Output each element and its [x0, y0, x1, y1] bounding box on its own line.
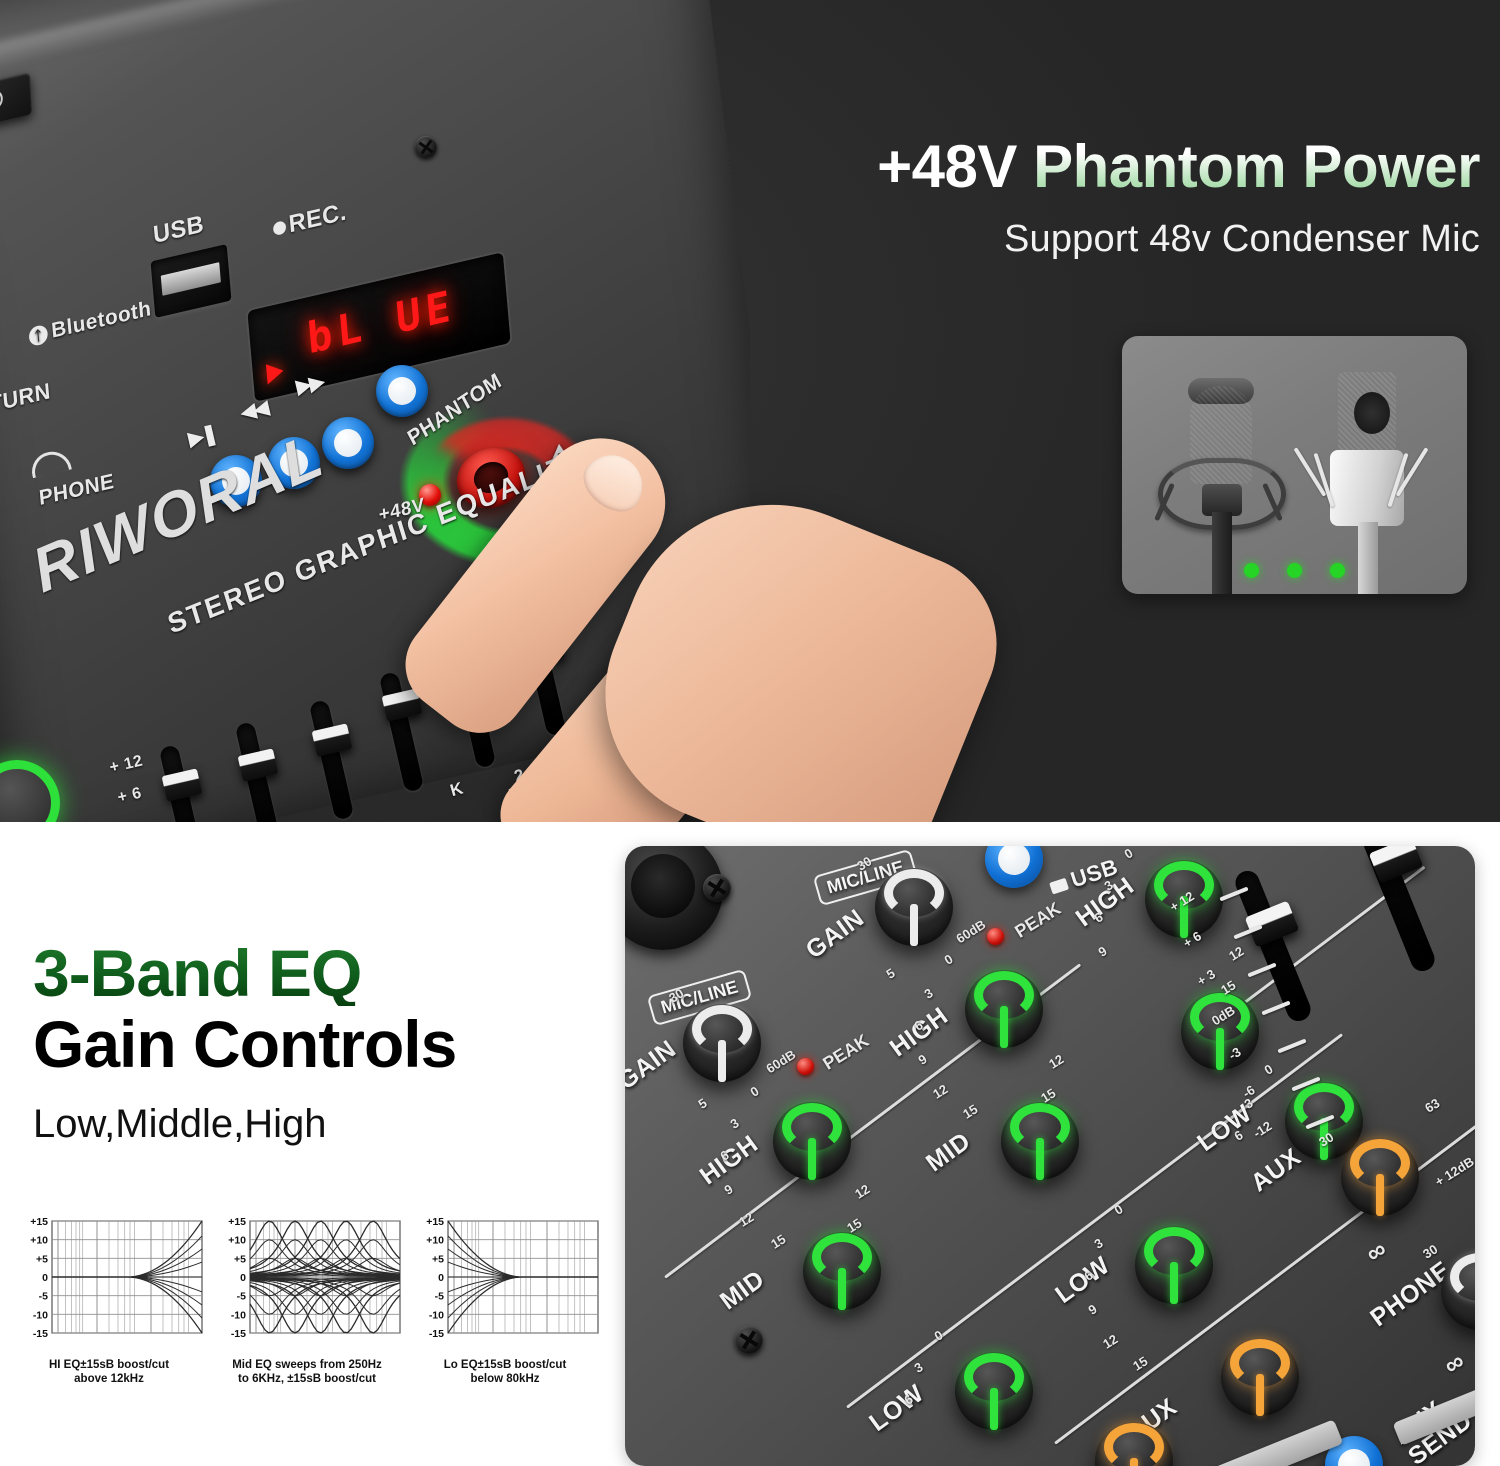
next-track-button[interactable]: [322, 417, 374, 469]
svg-text:+5: +5: [432, 1253, 444, 1265]
knob-pointer: [1256, 1374, 1264, 1416]
panel-screw-icon: [735, 1326, 763, 1354]
knob-pointer: [838, 1268, 846, 1310]
svg-text:-5: -5: [237, 1291, 246, 1303]
eq-scale-9: 9: [1096, 943, 1110, 960]
eq-scale-15: 15: [768, 1231, 788, 1251]
mid-eq-knob[interactable]: [1181, 992, 1259, 1070]
knob-ring: [1450, 1253, 1475, 1301]
svg-text:+10: +10: [426, 1235, 444, 1247]
mic-capsule: [1354, 392, 1390, 434]
eq-chart-high-caption: HI EQ±15sB boost/cut above 12kHz: [10, 1358, 208, 1387]
knob-pointer: [1376, 1174, 1384, 1216]
phantom-power-section: USB REC. ᛏBluetooth MODE TURN PHONE bL U…: [0, 0, 1500, 822]
eq-scale-3: 3: [728, 1115, 742, 1132]
svg-text:+15: +15: [228, 1216, 246, 1228]
eq-response-charts: +15+10+50-5-10-15 HI EQ±15sB boost/cut a…: [10, 1215, 604, 1387]
eq-scale-3: 3: [922, 985, 936, 1002]
gain-knob[interactable]: [683, 1004, 761, 1082]
eq-chart-mid-svg: +15+10+50-5-10-15: [208, 1215, 406, 1350]
panel-screw-icon: [415, 136, 437, 158]
peak-label: PEAK: [1011, 898, 1065, 942]
condenser-mic-dark: [1144, 362, 1304, 592]
aux-label: AUX: [1246, 1143, 1307, 1198]
fingernail: [574, 443, 655, 522]
svg-text:0: 0: [42, 1272, 48, 1284]
eq-title-black: Gain Controls: [33, 1008, 456, 1082]
svg-text:+5: +5: [234, 1253, 246, 1265]
subheadline: Support 48v Condenser Mic: [780, 218, 1480, 261]
eq-scale-0: 0: [1122, 846, 1136, 862]
knob-pointer: [808, 1138, 816, 1180]
svg-text:-10: -10: [33, 1309, 48, 1321]
svg-text:-15: -15: [33, 1328, 48, 1340]
mixer-knobs-photo: MIC/LINE MIC/LINE GAIN GAIN 30 5 60dB 30…: [625, 846, 1475, 1466]
carousel-dot[interactable]: [1330, 563, 1345, 578]
eq-gain-section: 3-Band EQ Gain Controls Low,Middle,High …: [0, 822, 1500, 1466]
carousel-dot[interactable]: [1244, 563, 1259, 578]
eq-scale-9: 9: [916, 1051, 930, 1068]
low-label: LOW: [1050, 1251, 1115, 1310]
peak-label: PEAK: [819, 1030, 873, 1074]
eq-scale-12r: 12: [852, 1181, 872, 1201]
eq-chart-high-svg: +15+10+50-5-10-15: [10, 1215, 208, 1350]
infinity-symbol: ∞: [1360, 1233, 1392, 1269]
aux-knob[interactable]: [1221, 1338, 1299, 1416]
knob-pointer: [1130, 1458, 1138, 1466]
knob-pointer: [990, 1388, 998, 1430]
eq-chart-low: +15+10+50-5-10-15 Lo EQ±15sB boost/cut b…: [406, 1215, 604, 1387]
svg-text:+5: +5: [36, 1253, 48, 1265]
knob-pointer: [1216, 1028, 1224, 1070]
fader-freq-63: 63: [1422, 1095, 1442, 1115]
headline-block: +48V Phantom Power Support 48v Condenser…: [780, 135, 1480, 261]
mid-label: MID: [921, 1127, 976, 1178]
mid-eq-knob[interactable]: [1001, 1102, 1079, 1180]
mid-label: MID: [715, 1265, 770, 1316]
gain-knob[interactable]: [875, 868, 953, 946]
peak-led: [797, 1058, 814, 1075]
gain-label: GAIN: [801, 904, 870, 965]
eq-scale-15: 15: [960, 1101, 980, 1121]
aux-knob[interactable]: [1341, 1138, 1419, 1216]
svg-text:+10: +10: [30, 1235, 48, 1247]
eq-scale-3: 3: [912, 1359, 926, 1376]
eq-chart-low-svg: +15+10+50-5-10-15: [406, 1215, 604, 1350]
infinity-symbol: ∞: [1438, 1345, 1470, 1381]
fader-tick: [1277, 1039, 1306, 1054]
phone-knob[interactable]: [1441, 1252, 1475, 1330]
svg-text:-10: -10: [231, 1309, 246, 1321]
record-dot-icon: [273, 220, 287, 236]
carousel-dots[interactable]: [1122, 563, 1467, 578]
gain-scale-60db: 60dB: [763, 1047, 798, 1077]
play-indicator-icon: [266, 361, 284, 385]
eq-chart-high: +15+10+50-5-10-15 HI EQ±15sB boost/cut a…: [10, 1215, 208, 1387]
eq-scale-9: 9: [1086, 1301, 1100, 1318]
gain-label: GAIN: [625, 1035, 682, 1096]
eq-scale-0: 0: [748, 1083, 762, 1100]
svg-text:-15: -15: [429, 1328, 444, 1340]
svg-text:-5: -5: [39, 1291, 48, 1303]
fader-scale-plus3: + 3: [1194, 966, 1218, 988]
low-eq-knob[interactable]: [1135, 1226, 1213, 1304]
knob-pointer: [1170, 1262, 1178, 1304]
gain-scale-5: 5: [696, 1095, 710, 1112]
condenser-mic-card: [1122, 336, 1467, 594]
knob-pointer: [718, 1040, 726, 1082]
eq-scale-0: 0: [1262, 1061, 1276, 1078]
svg-text:+15: +15: [30, 1216, 48, 1228]
svg-text:-5: -5: [435, 1291, 444, 1303]
mic-stand-stem: [1212, 512, 1232, 594]
mic-body: [1338, 372, 1396, 458]
low-eq-knob[interactable]: [955, 1352, 1033, 1430]
headline-voltage: +48V: [877, 133, 1033, 200]
carousel-dot[interactable]: [1287, 563, 1302, 578]
bluetooth-icon: ᛏ: [28, 324, 48, 347]
svg-text:0: 0: [438, 1272, 444, 1284]
knob-pointer: [1036, 1138, 1044, 1180]
mic-stand-stem: [1358, 522, 1378, 594]
eq-scale-12r: 12: [1046, 1051, 1066, 1071]
usb-icon: [1049, 878, 1069, 895]
led-display-text: bL UE: [305, 280, 457, 363]
eq-title-block: 3-Band EQ Gain Controls Low,Middle,High: [33, 940, 456, 1147]
svg-text:-15: -15: [231, 1328, 246, 1340]
gain-scale-5: 5: [884, 965, 898, 982]
usb-button[interactable]: [985, 846, 1043, 888]
svg-text:0: 0: [240, 1272, 246, 1284]
knob-pointer: [1000, 1006, 1008, 1048]
svg-text:-10: -10: [429, 1309, 444, 1321]
headline-phantom-power: Phantom Power: [1033, 133, 1480, 200]
eq-scale-0: 0: [1112, 1201, 1126, 1218]
knob-pointer: [910, 904, 918, 946]
condenser-mic-white: [1298, 358, 1448, 588]
high-eq-knob[interactable]: [773, 1102, 851, 1180]
eq-chart-mid-caption: Mid EQ sweeps from 250Hz to 6KHz, ±15sB …: [208, 1358, 406, 1387]
headline: +48V Phantom Power: [780, 135, 1480, 198]
eq-subtitle: Low,Middle,High: [33, 1102, 456, 1147]
peak-led: [987, 928, 1004, 945]
panel-strip: [1167, 1419, 1344, 1466]
eq-scale-12: 12: [930, 1081, 950, 1101]
svg-text:+10: +10: [228, 1235, 246, 1247]
high-eq-knob[interactable]: [965, 970, 1043, 1048]
eq-scale-3: 3: [1092, 1235, 1106, 1252]
svg-text:+15: +15: [426, 1216, 444, 1228]
eq-scale-12: 12: [1100, 1331, 1120, 1351]
mid-eq-knob[interactable]: [803, 1232, 881, 1310]
eq-scale-12r: 12: [1226, 943, 1246, 963]
hand-pressing-button: [455, 395, 975, 822]
product-feature-page: USB REC. ᛏBluetooth MODE TURN PHONE bL U…: [0, 0, 1500, 1466]
eq-scale-0: 0: [942, 951, 956, 968]
eq-title-green: 3-Band EQ: [33, 940, 456, 1006]
panel-screw-icon: [703, 874, 731, 902]
eq-chart-mid: +15+10+50-5-10-15 Mid EQ sweeps from 250…: [208, 1215, 406, 1387]
aux-scale-12db: + 12dB: [1432, 1154, 1475, 1190]
eq-scale-9: 9: [722, 1181, 736, 1198]
eq-chart-low-caption: Lo EQ±15sB boost/cut below 80kHz: [406, 1358, 604, 1387]
gain-scale-60db: 60dB: [953, 917, 988, 947]
